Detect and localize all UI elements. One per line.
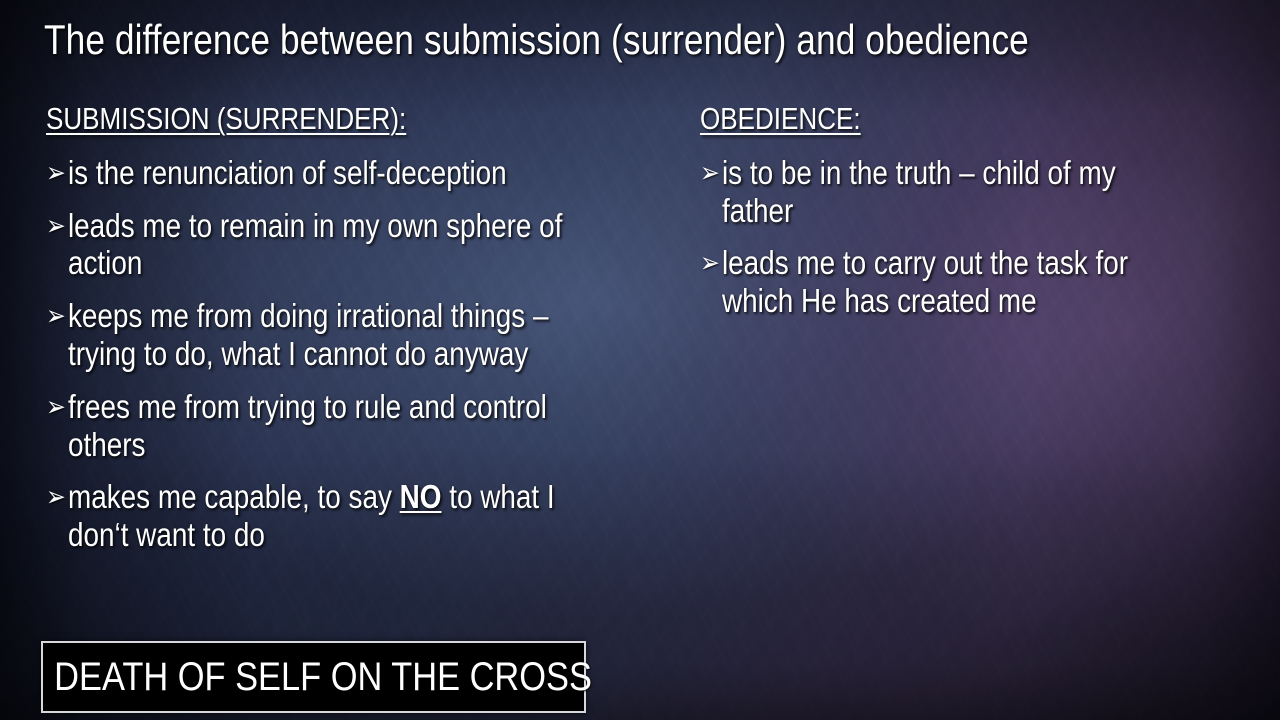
list-item-text-pre: makes me capable, to say — [68, 478, 400, 515]
list-item-text: is to be in the truth – child of my fath… — [722, 154, 1116, 229]
arrow-bullet-icon: ➢ — [46, 209, 66, 243]
column-heading-submission: SUBMISSION (SURRENDER): — [46, 100, 600, 138]
list-item-text: leads me to remain in my own sphere of a… — [68, 207, 562, 282]
arrow-bullet-icon: ➢ — [46, 156, 66, 190]
list-item: ➢frees me from trying to rule and contro… — [46, 388, 604, 464]
list-item-text: keeps me from doing irrational things – … — [68, 297, 548, 372]
arrow-bullet-icon: ➢ — [46, 390, 66, 424]
list-item: ➢leads me to remain in my own sphere of … — [46, 207, 604, 283]
callout-box: DEATH OF SELF ON THE CROSS — [41, 641, 586, 713]
arrow-bullet-icon: ➢ — [700, 246, 720, 280]
column-heading-obedience: OBEDIENCE: — [700, 100, 1187, 138]
list-item-text: leads me to carry out the task for which… — [722, 244, 1128, 319]
callout-text: DEATH OF SELF ON THE CROSS — [43, 657, 592, 697]
column-submission: SUBMISSION (SURRENDER): ➢is the renuncia… — [46, 100, 706, 569]
arrow-bullet-icon: ➢ — [700, 156, 720, 190]
list-item: ➢keeps me from doing irrational things –… — [46, 297, 604, 373]
list-item-text: frees me from trying to rule and control… — [68, 388, 547, 463]
arrow-bullet-icon: ➢ — [46, 480, 66, 514]
list-item: ➢leads me to carry out the task for whic… — [700, 244, 1190, 320]
list-item: ➢is the renunciation of self-deception — [46, 154, 604, 192]
presentation-slide: The difference between submission (surre… — [0, 0, 1280, 720]
column-obedience: OBEDIENCE: ➢is to be in the truth – chil… — [700, 100, 1280, 335]
list-item-emphasis: NO — [400, 478, 442, 515]
arrow-bullet-icon: ➢ — [46, 299, 66, 333]
list-item: ➢is to be in the truth – child of my fat… — [700, 154, 1190, 230]
slide-title: The difference between submission (surre… — [44, 17, 1052, 62]
list-item: ➢makes me capable, to say NO to what I d… — [46, 478, 604, 554]
list-item-text: is the renunciation of self-deception — [68, 154, 507, 191]
